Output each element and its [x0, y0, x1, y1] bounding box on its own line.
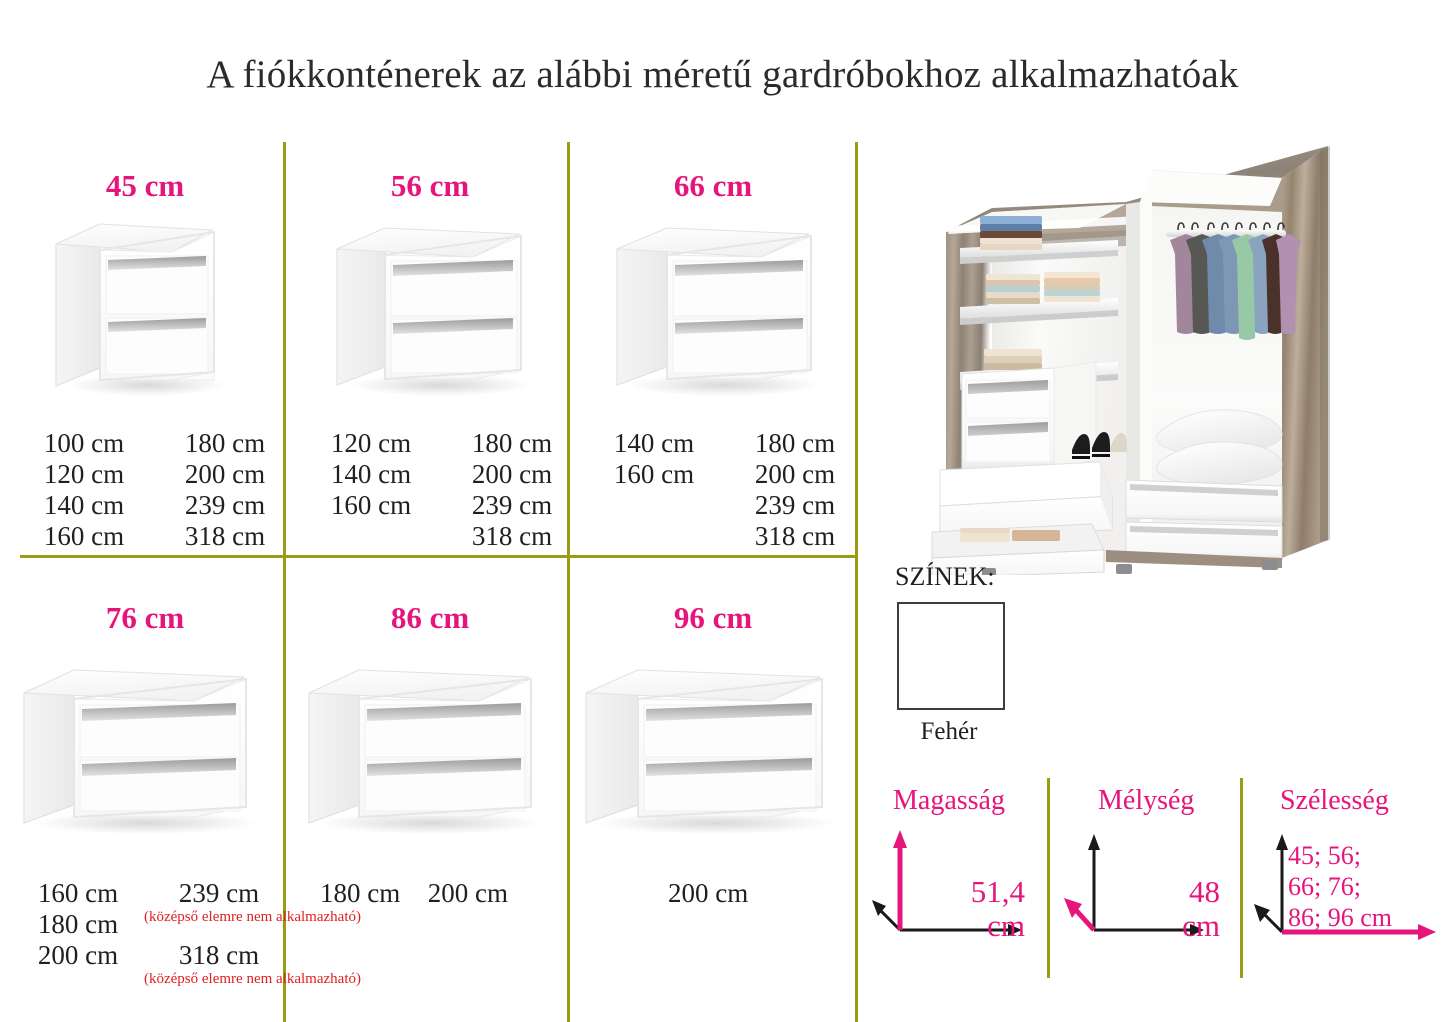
meas-left: 160 cm [305, 490, 437, 521]
meas-left: 200 cm [12, 940, 144, 971]
dimension-value-width: 45; 56; 66; 76; 86; 96 cm [1288, 840, 1443, 933]
measurement-list-45: 100 cm180 cm 120 cm200 cm 140 cm239 cm 1… [18, 428, 300, 552]
meas-left: 180 cm [12, 909, 144, 940]
drawer-cabinet-icon-66 [613, 225, 827, 397]
dimension-title-height: Magasság [893, 785, 1005, 817]
dimension-number-width-line3: 86; 96 cm [1288, 902, 1443, 933]
meas-value: 200 cm [668, 878, 748, 908]
color-swatch-white[interactable] [897, 602, 1005, 710]
grid-divider-vertical-6 [855, 558, 858, 1022]
meas-right: 200 cm [150, 459, 300, 490]
meas-note: (középső elemre nem alkalmazható) [144, 971, 294, 988]
measurement-list-66: 140 cm180 cm 160 cm200 cm 239 cm 318 cm [588, 428, 870, 552]
dimension-unit-depth: cm [1120, 909, 1220, 943]
meas-right: 318 cm [150, 521, 300, 552]
colors-section-label: SZÍNEK: [895, 562, 995, 592]
meas-right: 318 cm [437, 521, 587, 552]
dimension-number-height: 51,4 [930, 875, 1025, 909]
meas-left: 140 cm [305, 459, 437, 490]
infographic-canvas: A fiókkonténerek az alábbi méretű gardró… [0, 0, 1445, 1022]
drawer-cabinet-icon-96 [580, 665, 845, 835]
meas-right: 239 cm [437, 490, 587, 521]
meas-value: 200 cm [428, 878, 508, 909]
meas-left: 100 cm [18, 428, 150, 459]
measurement-list-76: 160 cm239 cm 180 cm(középső elemre nem a… [12, 878, 294, 1002]
meas-left-empty [305, 521, 437, 552]
meas-right: 180 cm [720, 428, 870, 459]
grid-divider-vertical-5 [567, 558, 570, 1022]
meas-left-empty [12, 971, 144, 1002]
measurement-list-56: 120 cm180 cm 140 cm200 cm 160 cm239 cm 3… [305, 428, 587, 552]
dimension-unit-height: cm [930, 909, 1025, 943]
dimension-number-width-line1: 45; 56; [1288, 840, 1443, 871]
meas-right: 200 cm [437, 459, 587, 490]
meas-right: 239 cm [144, 878, 294, 909]
dim-divider-vertical-1 [1047, 778, 1050, 978]
drawer-cabinet-icon-86 [303, 665, 553, 835]
measurement-list-86: 180 cm 200 cm [320, 878, 508, 909]
size-heading-86: 86 cm [330, 600, 530, 636]
dimension-title-depth: Mélység [1098, 785, 1194, 817]
meas-right: 318 cm [720, 521, 870, 552]
size-heading-76: 76 cm [45, 600, 245, 636]
drawer-cabinet-icon-56 [333, 225, 537, 397]
size-heading-96: 96 cm [613, 600, 813, 636]
grid-divider-horizontal [20, 555, 858, 558]
meas-left: 160 cm [18, 521, 150, 552]
size-heading-45: 45 cm [45, 168, 245, 204]
meas-note: (középső elemre nem alkalmazható) [144, 909, 294, 926]
meas-left: 120 cm [305, 428, 437, 459]
meas-left: 120 cm [18, 459, 150, 490]
dimension-number-depth: 48 [1120, 875, 1220, 909]
meas-left-empty [588, 521, 720, 552]
color-swatch-label: Fehér [897, 718, 1001, 746]
dimension-value-depth: 48 cm [1120, 875, 1220, 943]
meas-left: 160 cm [12, 878, 144, 909]
dimension-number-width-line2: 66; 76; [1288, 871, 1443, 902]
measurement-list-96: 200 cm [668, 878, 748, 909]
meas-right: 180 cm [437, 428, 587, 459]
meas-left: 140 cm [588, 428, 720, 459]
dimension-title-width: Szélesség [1280, 785, 1389, 817]
open-wardrobe-photo [930, 140, 1350, 575]
page-title: A fiókkonténerek az alábbi méretű gardró… [0, 52, 1445, 97]
drawer-cabinet-icon-76 [18, 665, 268, 835]
drawer-cabinet-icon-45 [52, 222, 230, 397]
meas-right: 318 cm [144, 940, 294, 971]
meas-left-empty [588, 490, 720, 521]
meas-right: 200 cm [720, 459, 870, 490]
size-heading-66: 66 cm [613, 168, 813, 204]
meas-right: 239 cm [150, 490, 300, 521]
meas-right: 180 cm [150, 428, 300, 459]
meas-right: 239 cm [720, 490, 870, 521]
size-heading-56: 56 cm [330, 168, 530, 204]
meas-value: 180 cm [320, 878, 400, 909]
dim-divider-vertical-2 [1240, 778, 1243, 978]
meas-left: 160 cm [588, 459, 720, 490]
meas-left: 140 cm [18, 490, 150, 521]
dimension-value-height: 51,4 cm [930, 875, 1025, 943]
